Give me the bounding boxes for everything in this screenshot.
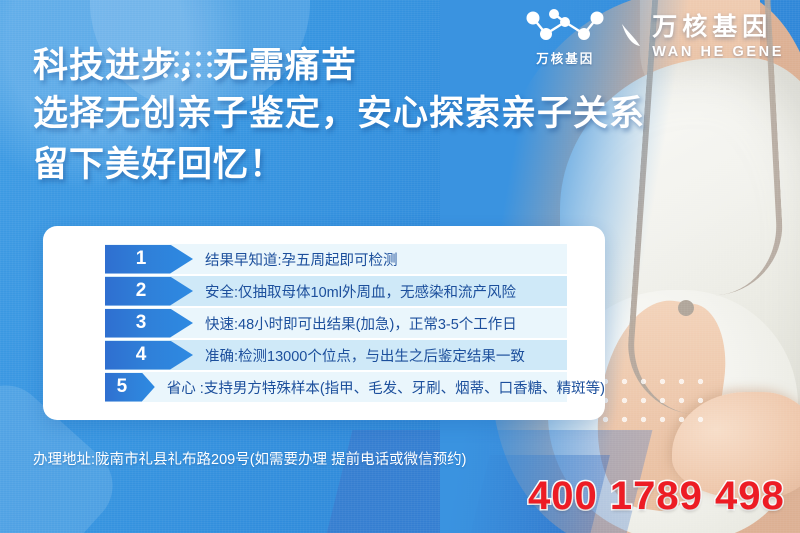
logo-swoosh-icon: [618, 18, 644, 57]
molecule-node-icon: [522, 8, 608, 46]
headline-line-3: 留下美好回忆！: [33, 140, 645, 190]
logo-wordmark: 万核基因 WAN HE GENE: [652, 15, 784, 60]
list-item: 3 快速:48小时即可出结果(加急)，正常3-5个工作日: [43, 308, 605, 338]
list-item: 1 结果早知道:孕五周起即可检测: [43, 244, 605, 274]
logo-mark: 万核基因: [522, 8, 608, 67]
feature-text: 准确:检测13000个位点，与出生之后鉴定结果一致: [205, 345, 525, 366]
logo-name-en: WAN HE GENE: [652, 45, 784, 60]
brand-logo[interactable]: 万核基因 万核基因 WAN HE GENE: [522, 8, 784, 67]
feature-text: 安全:仅抽取母体10ml外周血，无感染和流产风险: [205, 281, 516, 302]
headline-line-2: 选择无创亲子鉴定，安心探索亲子关系: [33, 88, 645, 140]
feature-text: 快速:48小时即可出结果(加急)，正常3-5个工作日: [205, 313, 517, 334]
logo-mark-label: 万核基因: [536, 48, 594, 67]
list-item: 5 省心 :支持男方特殊样本(指甲、毛发、牙刷、烟蒂、口香糖、精斑等): [43, 372, 605, 402]
feature-text: 结果早知道:孕五周起即可检测: [205, 249, 398, 270]
features-panel: 1 结果早知道:孕五周起即可检测 2 安全:仅抽取母体10ml外周血，无感染和流…: [43, 226, 605, 420]
hotline-phone-number[interactable]: 400 1789 498: [528, 474, 785, 519]
decor-dot-grid-headline: [160, 48, 224, 78]
poster-canvas: 万核基因 万核基因 WAN HE GENE 科技进步，无需痛苦 选择无创亲子鉴定…: [0, 0, 800, 533]
logo-name-cn: 万核基因: [652, 15, 784, 40]
list-item: 4 准确:检测13000个位点，与出生之后鉴定结果一致: [43, 340, 605, 370]
list-item: 2 安全:仅抽取母体10ml外周血，无感染和流产风险: [43, 276, 605, 306]
office-address: 办理地址:陇南市礼县礼布路209号(如需要办理 提前电话或微信预约): [33, 448, 466, 469]
features-list: 1 结果早知道:孕五周起即可检测 2 安全:仅抽取母体10ml外周血，无感染和流…: [43, 244, 605, 404]
feature-text: 省心 :支持男方特殊样本(指甲、毛发、牙刷、烟蒂、口香糖、精斑等): [167, 377, 605, 398]
